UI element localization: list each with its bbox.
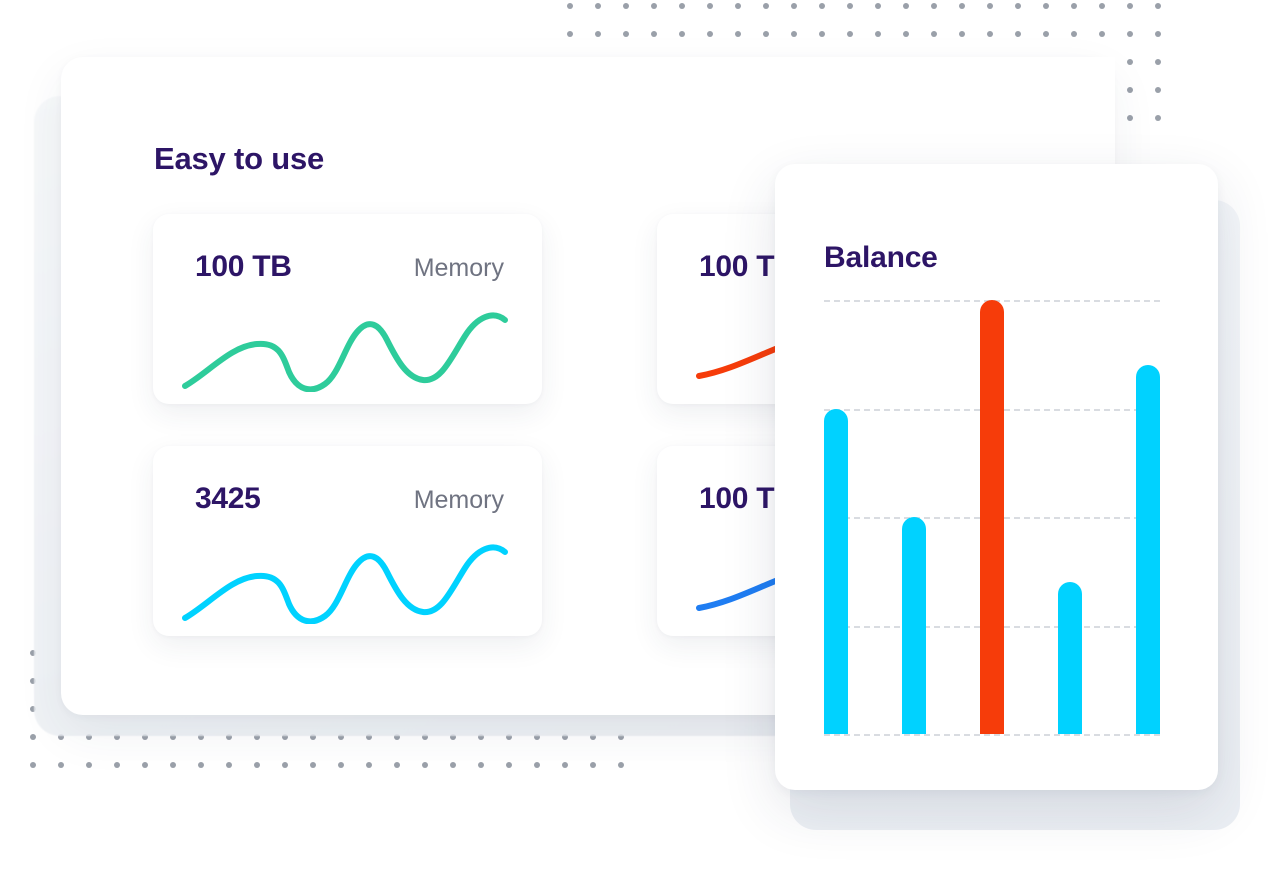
decorative-dot <box>30 762 36 768</box>
balance-bar-chart[interactable] <box>824 300 1160 734</box>
decorative-dot <box>987 3 993 9</box>
decorative-dot <box>282 734 288 740</box>
decorative-dot <box>198 762 204 768</box>
decorative-dot <box>623 31 629 37</box>
decorative-dot <box>847 3 853 9</box>
decorative-dot <box>1127 115 1133 121</box>
decorative-dot <box>618 734 624 740</box>
metric-value: 3425 <box>195 482 261 516</box>
decorative-dot <box>903 31 909 37</box>
decorative-dot <box>679 3 685 9</box>
page-title: Easy to use <box>154 141 324 177</box>
decorative-dot <box>791 3 797 9</box>
decorative-dot <box>735 31 741 37</box>
decorative-dot <box>534 762 540 768</box>
decorative-dot <box>1155 3 1161 9</box>
decorative-dot <box>394 734 400 740</box>
decorative-dot <box>763 31 769 37</box>
decorative-dot <box>1127 3 1133 9</box>
decorative-dot <box>595 31 601 37</box>
decorative-dot <box>506 762 512 768</box>
decorative-dot <box>282 762 288 768</box>
decorative-dot <box>1015 31 1021 37</box>
chart-gridline <box>824 734 1160 736</box>
decorative-dot <box>310 734 316 740</box>
decorative-dot <box>1099 3 1105 9</box>
decorative-dot <box>562 734 568 740</box>
metric-card[interactable]: 100 TB Memory <box>153 214 542 404</box>
decorative-dot <box>30 650 36 656</box>
decorative-dot <box>1099 31 1105 37</box>
decorative-dot <box>422 762 428 768</box>
decorative-dot <box>707 3 713 9</box>
decorative-dot <box>534 734 540 740</box>
decorative-dot <box>198 734 204 740</box>
decorative-dot <box>254 734 260 740</box>
metric-value: 100 TB <box>195 250 292 284</box>
decorative-dot <box>450 734 456 740</box>
decorative-dot <box>959 31 965 37</box>
decorative-dot <box>310 762 316 768</box>
decorative-dot <box>567 31 573 37</box>
decorative-dot <box>30 706 36 712</box>
decorative-dot <box>847 31 853 37</box>
sparkline-wave-green <box>179 302 519 392</box>
decorative-dot <box>478 734 484 740</box>
decorative-dot <box>623 3 629 9</box>
decorative-dot <box>618 762 624 768</box>
chart-bar[interactable] <box>902 517 926 734</box>
decorative-dot <box>562 762 568 768</box>
decorative-dot <box>114 734 120 740</box>
metric-label: Memory <box>414 486 504 515</box>
decorative-dot <box>1155 115 1161 121</box>
metric-card[interactable]: 3425 Memory <box>153 446 542 636</box>
decorative-dot <box>735 3 741 9</box>
metric-label: Memory <box>414 254 504 283</box>
decorative-dot <box>58 734 64 740</box>
decorative-dot <box>142 734 148 740</box>
decorative-dot <box>1155 59 1161 65</box>
decorative-dot <box>903 3 909 9</box>
decorative-dot <box>1043 3 1049 9</box>
decorative-dot <box>86 762 92 768</box>
decorative-dot <box>567 3 573 9</box>
decorative-dot <box>86 734 92 740</box>
decorative-dot <box>1155 87 1161 93</box>
decorative-dot <box>1155 31 1161 37</box>
decorative-dot <box>1071 31 1077 37</box>
decorative-dot <box>590 762 596 768</box>
decorative-dot <box>450 762 456 768</box>
decorative-dot <box>763 3 769 9</box>
decorative-dot <box>1071 3 1077 9</box>
decorative-dot <box>338 734 344 740</box>
decorative-dot <box>170 762 176 768</box>
sparkline-wave-cyan <box>179 534 519 624</box>
decorative-dot <box>394 762 400 768</box>
decorative-dot <box>366 734 372 740</box>
decorative-dot <box>1043 31 1049 37</box>
decorative-dot <box>254 762 260 768</box>
decorative-dot <box>422 734 428 740</box>
decorative-dot <box>707 31 713 37</box>
decorative-dot <box>679 31 685 37</box>
decorative-dot <box>590 734 596 740</box>
decorative-dot <box>987 31 993 37</box>
chart-bar[interactable] <box>980 300 1004 734</box>
decorative-dot <box>58 762 64 768</box>
decorative-dot <box>595 3 601 9</box>
decorative-dot <box>478 762 484 768</box>
chart-bar[interactable] <box>824 409 848 735</box>
chart-bar[interactable] <box>1136 365 1160 734</box>
decorative-dot <box>819 3 825 9</box>
decorative-dot <box>114 762 120 768</box>
decorative-dot <box>226 734 232 740</box>
stage: Easy to use 100 TB Memory 3425 Memory 10… <box>0 0 1283 877</box>
decorative-dot <box>338 762 344 768</box>
decorative-dot <box>506 734 512 740</box>
decorative-dot <box>791 31 797 37</box>
decorative-dot <box>1127 87 1133 93</box>
decorative-dot <box>651 3 657 9</box>
decorative-dot <box>142 762 148 768</box>
decorative-dot <box>875 31 881 37</box>
decorative-dot <box>366 762 372 768</box>
decorative-dot <box>931 31 937 37</box>
decorative-dot <box>1127 31 1133 37</box>
decorative-dot <box>30 678 36 684</box>
decorative-dot <box>170 734 176 740</box>
decorative-dot <box>959 3 965 9</box>
decorative-dot <box>30 734 36 740</box>
balance-title: Balance <box>824 241 938 275</box>
decorative-dot <box>651 31 657 37</box>
decorative-dot <box>1127 59 1133 65</box>
decorative-dot <box>875 3 881 9</box>
chart-bar[interactable] <box>1058 582 1082 734</box>
decorative-dot <box>819 31 825 37</box>
decorative-dot <box>226 762 232 768</box>
decorative-dot <box>931 3 937 9</box>
decorative-dot <box>1015 3 1021 9</box>
